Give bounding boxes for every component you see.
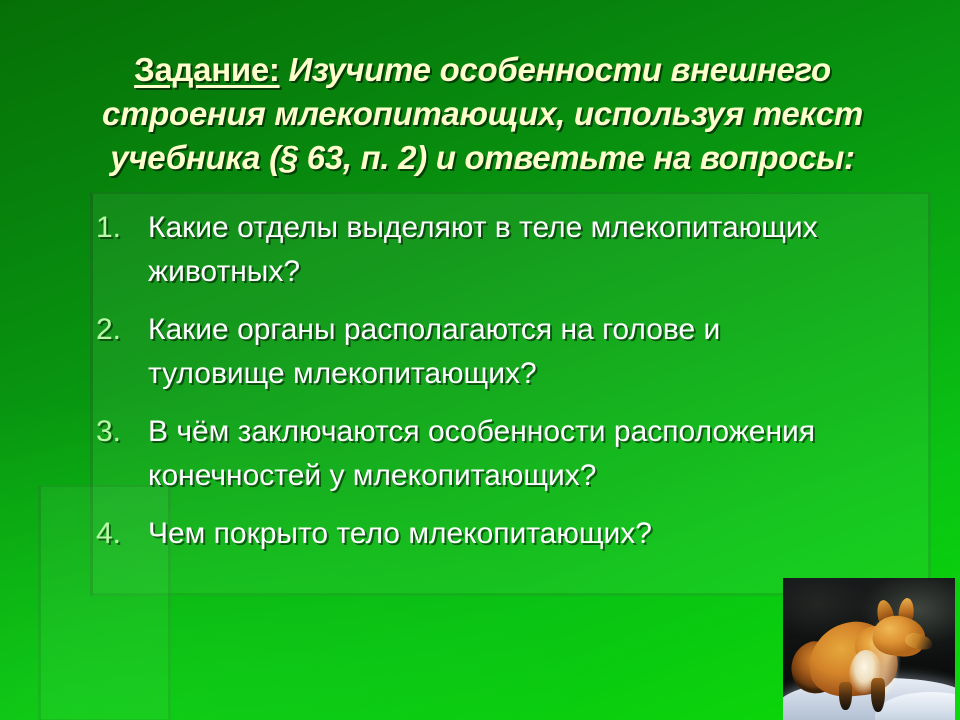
list-item-number: 1. [96, 206, 148, 250]
list-item: 3. В чём заключаются особенности располо… [96, 410, 856, 498]
list-item-number: 3. [96, 410, 148, 454]
fox-front-leg [871, 678, 885, 712]
list-item-text: Какие отделы выделяют в теле млекопитающ… [148, 206, 856, 294]
list-item: 4. Чем покрыто тело млекопитающих? [96, 512, 856, 556]
list-item-text: В чём заключаются особенности расположен… [148, 410, 856, 498]
list-item: 1. Какие отделы выделяют в теле млекопит… [96, 206, 856, 294]
title-label: Задание: [134, 51, 280, 88]
slide-canvas: Задание: Изучите особенности внешнего ст… [0, 0, 960, 720]
slide-title: Задание: Изучите особенности внешнего ст… [60, 48, 905, 180]
list-item: 2. Какие органы располагаются на голове … [96, 308, 856, 396]
list-item-text: Чем покрыто тело млекопитающих? [148, 512, 856, 556]
list-item-text: Какие органы располагаются на голове и т… [148, 308, 856, 396]
question-list: 1. Какие отделы выделяют в теле млекопит… [96, 206, 856, 570]
list-item-number: 2. [96, 308, 148, 352]
fox-photo [783, 578, 955, 720]
list-item-number: 4. [96, 512, 148, 556]
